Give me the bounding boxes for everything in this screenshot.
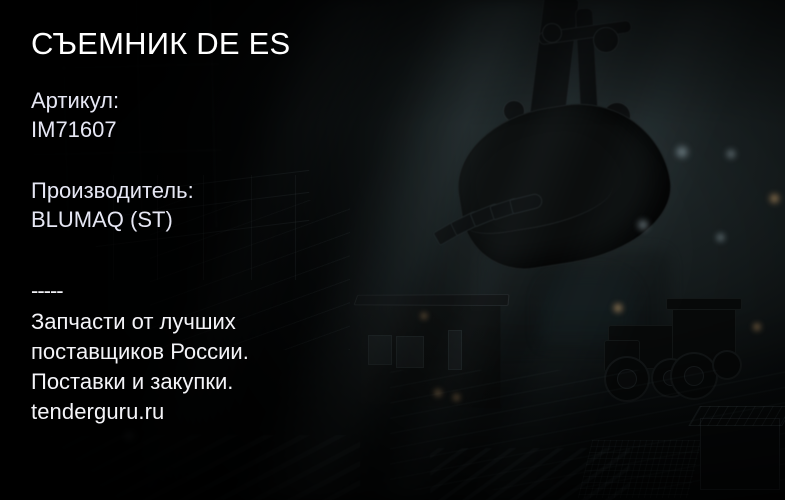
bokeh-light [452,393,461,402]
card-content: СЪЕМНИК DE ES Артикул: IM71607 Производи… [31,0,411,500]
articul-label: Артикул: [31,88,119,113]
manufacturer-label: Производитель: [31,178,194,203]
bokeh-light [768,192,781,205]
articul-field: Артикул: IM71607 [31,86,119,144]
manufacturer-value: BLUMAQ (ST) [31,205,194,234]
cab-window [448,330,462,370]
site-url: tenderguru.ru [31,397,249,427]
wire-crate [700,418,780,490]
bokeh-light [636,218,650,232]
bokeh-light [433,388,443,398]
promo-line-3: Поставки и закупки. [31,367,249,397]
tractor-roof [666,298,742,310]
bokeh-light [752,322,762,332]
product-title: СЪЕМНИК DE ES [31,26,290,62]
bokeh-light [674,144,690,160]
excavator-pivot [542,23,562,43]
bokeh-light [715,232,726,243]
bokeh-light [420,312,428,320]
promo-line-1: Запчасти от лучших [31,307,249,337]
excavator-bucket-silhouette [418,48,718,278]
divider: ----- [31,276,63,305]
product-card: СЪЕМНИК DE ES Артикул: IM71607 Производи… [0,0,785,500]
bokeh-light [612,302,624,314]
promo-block: Запчасти от лучших поставщиков России. П… [31,307,249,427]
mesh-grate [578,440,702,498]
articul-value: IM71607 [31,115,119,144]
excavator-pivot [593,27,619,53]
bokeh-light [725,148,737,160]
promo-line-2: поставщиков России. [31,337,249,367]
wire-crate-top [688,406,785,426]
manufacturer-field: Производитель: BLUMAQ (ST) [31,176,194,234]
